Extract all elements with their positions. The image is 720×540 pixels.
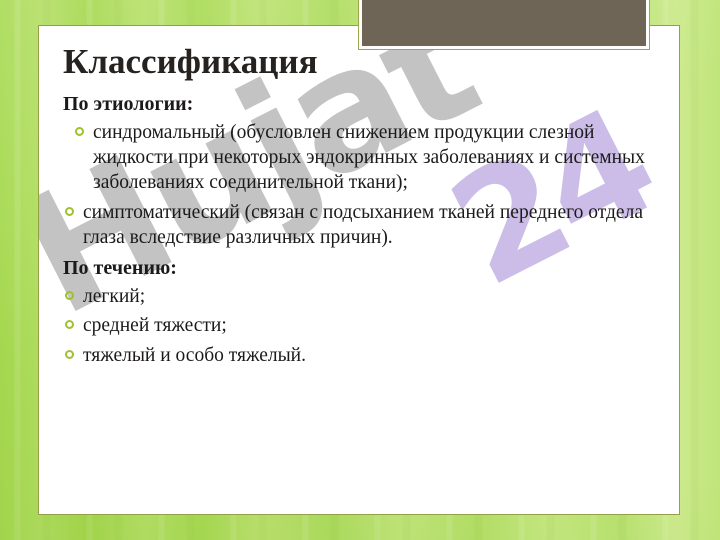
list-item: средней тяжести;: [63, 314, 655, 339]
list-item: тяжелый и особо тяжелый.: [63, 344, 655, 369]
list-item: синдромальный (обусловлен снижением прод…: [63, 121, 655, 196]
bullet-ring-icon: [65, 350, 74, 359]
list-item-text: симптоматический (связан с подсыханием т…: [83, 202, 643, 248]
bullet-ring-icon: [75, 127, 84, 136]
list-item: симптоматический (связан с подсыханием т…: [63, 201, 655, 251]
bullet-ring-icon: [65, 291, 74, 300]
list-item-text: тяжелый и особо тяжелый.: [83, 345, 306, 366]
header-image-placeholder: [358, 0, 650, 50]
content-panel: Hujat 24 Классификация По этиологии: син…: [38, 25, 680, 515]
list-item: легкий;: [63, 285, 655, 310]
header-image-fill: [362, 0, 646, 46]
section-heading-etiology: По этиологии:: [63, 92, 655, 117]
list-item-text: синдромальный (обусловлен снижением прод…: [93, 122, 645, 193]
presentation-slide: Hujat 24 Классификация По этиологии: син…: [0, 0, 720, 540]
list-item-text: средней тяжести;: [83, 315, 227, 336]
bullet-ring-icon: [65, 207, 74, 216]
bullet-ring-icon: [65, 320, 74, 329]
slide-content: Классификация По этиологии: синдромальны…: [39, 26, 679, 369]
list-item-text: легкий;: [83, 286, 145, 307]
section-heading-course: По течению:: [63, 256, 655, 281]
